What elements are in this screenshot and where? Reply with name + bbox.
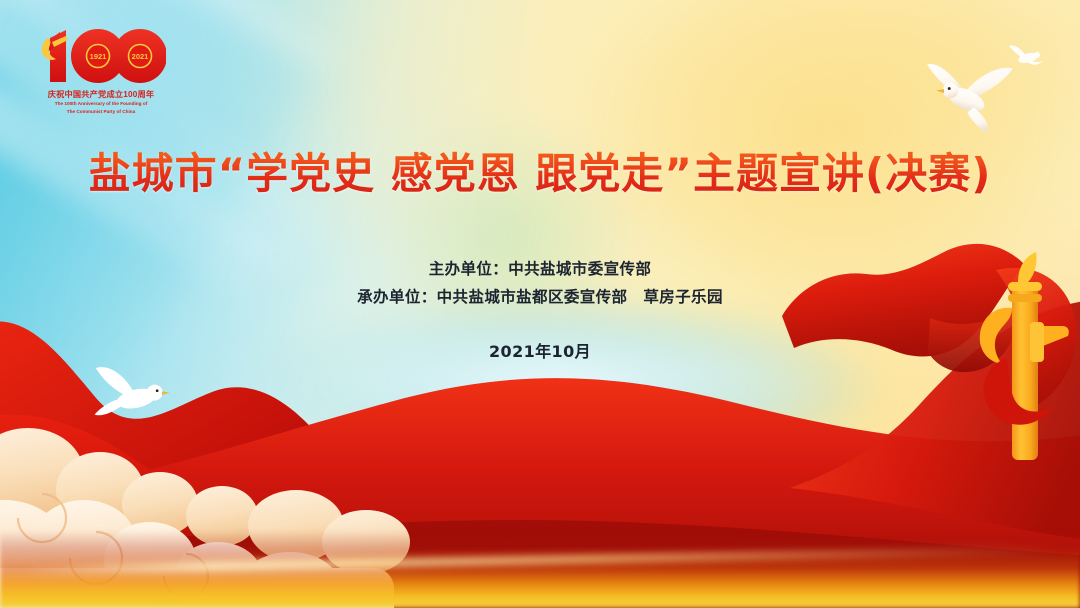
- logo-subtitle-line1: The 100th Anniversary of the Founding of: [36, 100, 166, 108]
- main-title: 盐城市“学党史 感党恩 跟党走”主题宣讲(决赛): [0, 140, 1080, 201]
- dove-top-near-icon: [918, 52, 1022, 138]
- dove-lower-left-icon: [86, 358, 178, 432]
- event-date: 2021年10月: [0, 338, 1080, 362]
- logo-year-1921: 1921: [90, 52, 107, 61]
- organizer-block: 主办单位：中共盐城市委宣传部 承办单位：中共盐城市盐都区委宣传部 草房子乐园: [0, 255, 1080, 311]
- host-organizer-line: 主办单位：中共盐城市委宣传部: [0, 255, 1080, 283]
- logo-year-2021: 2021: [132, 52, 149, 61]
- logo-title-cn: 庆祝中国共产党成立100周年: [36, 88, 166, 100]
- cpc-100-anniversary-logo: 1921 2021 庆祝中国共产党成立100周年 The 100th Anniv…: [36, 24, 166, 129]
- poster-canvas: 1921 2021 庆祝中国共产党成立100周年 The 100th Anniv…: [0, 0, 1080, 608]
- logo-subtitle-line2: The Communist Party of China: [36, 108, 166, 116]
- logo-100-numeral-icon: 1921 2021: [36, 24, 166, 86]
- co-organizer-line: 承办单位：中共盐城市盐都区委宣传部 草房子乐园: [0, 283, 1080, 311]
- logo-subtitle-en: The 100th Anniversary of the Founding of…: [36, 100, 166, 115]
